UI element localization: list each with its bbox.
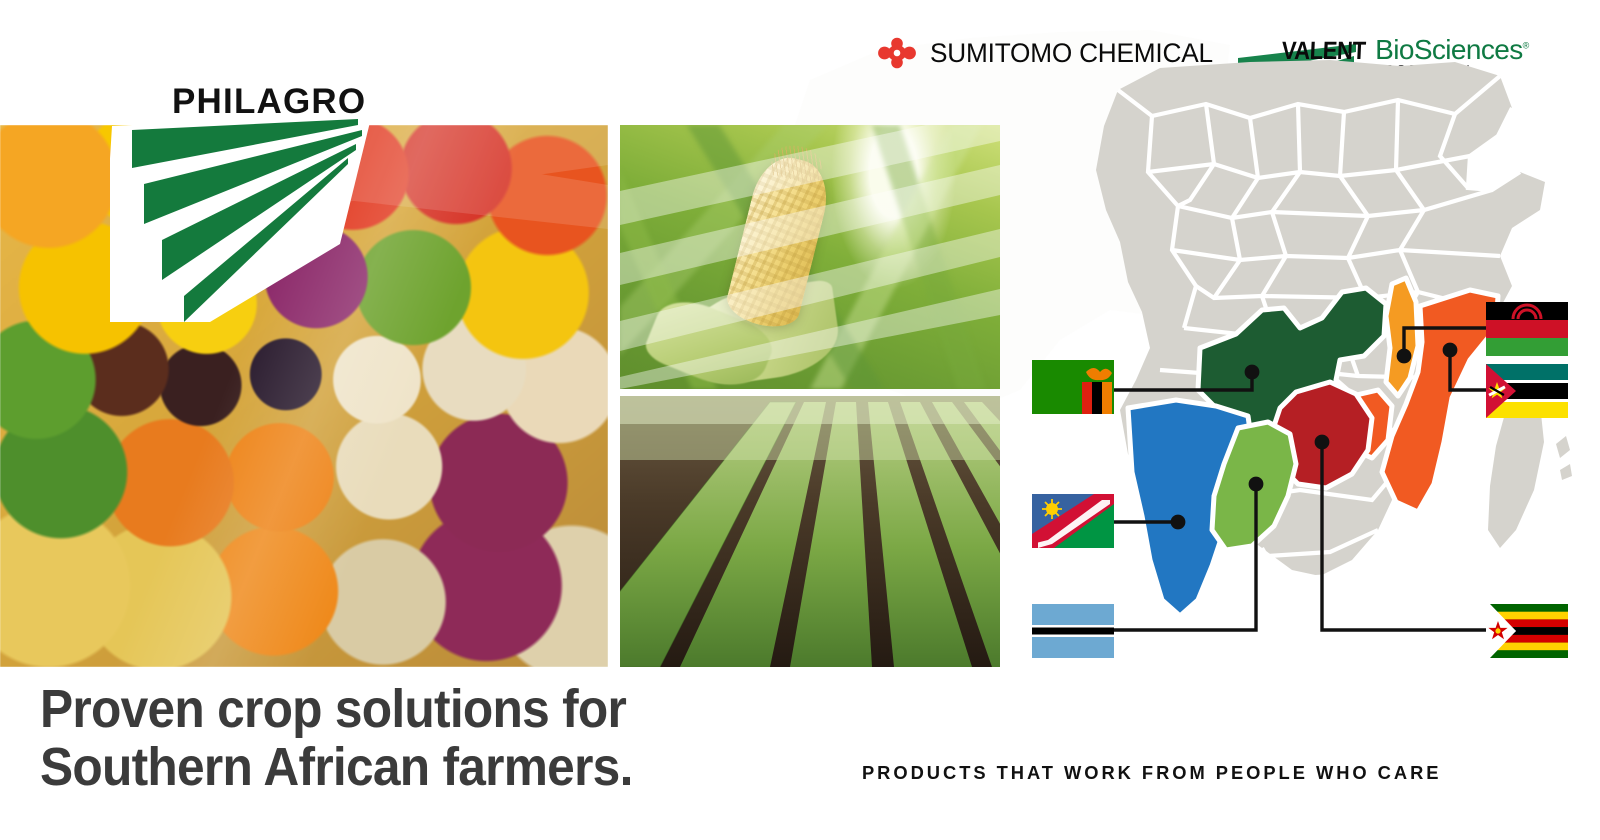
- registered-mark: ®: [1523, 41, 1529, 51]
- sumitomo-diamond-mark-icon: [876, 36, 918, 70]
- southern-africa-map: [1000, 60, 1600, 760]
- dot-zimbabwe: [1315, 435, 1330, 450]
- malawi-flag-icon: [1486, 302, 1568, 356]
- page-headline: Proven crop solutions for Southern Afric…: [40, 681, 633, 797]
- marketing-banner: PHILAGRO: [0, 0, 1600, 840]
- brand-tagline: PRODUCTS THAT WORK FROM PEOPLE WHO CARE: [862, 762, 1441, 784]
- philagro-wordmark: PHILAGRO: [172, 82, 366, 122]
- dot-mozambique: [1443, 343, 1458, 358]
- soybean-field-photo: [620, 396, 1000, 667]
- namibia-flag-icon: [1032, 494, 1114, 548]
- dot-zambia: [1245, 365, 1260, 380]
- maize-photo: [620, 125, 1000, 389]
- dot-botswana: [1249, 477, 1264, 492]
- dot-namibia: [1171, 515, 1186, 530]
- philagro-logo: PHILAGRO: [110, 84, 378, 322]
- mozambique-flag-icon: [1486, 364, 1568, 418]
- soybean-rows: [620, 396, 1000, 667]
- botswana-flag-icon: [1032, 604, 1114, 658]
- dot-malawi: [1397, 349, 1412, 364]
- zimbabwe-flag-icon: [1484, 604, 1568, 658]
- zambia-flag-icon: [1032, 360, 1114, 414]
